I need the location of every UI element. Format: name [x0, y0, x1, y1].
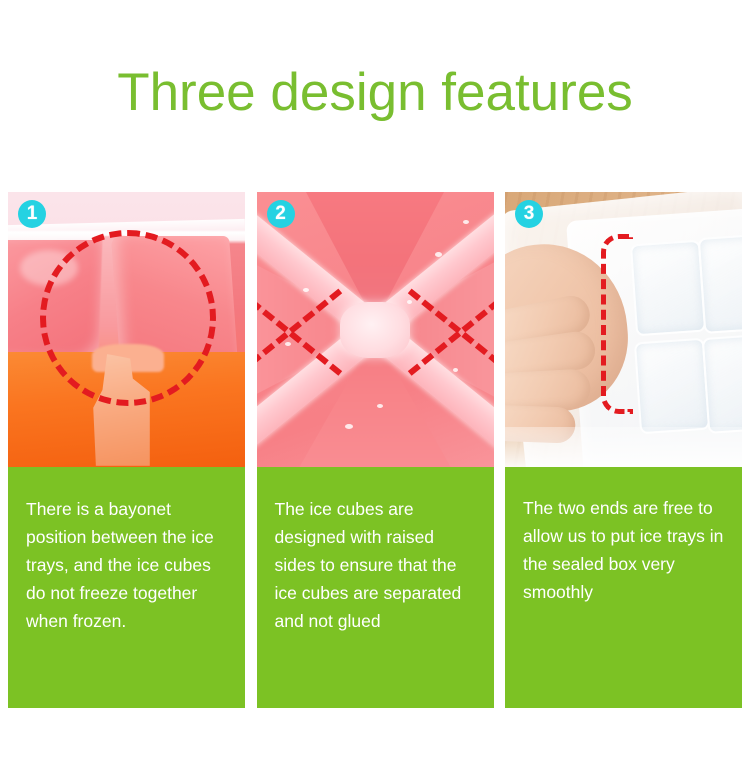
feature-card-1: 1 There is a bayonet position between th… — [8, 192, 245, 708]
feature-photo-1: 1 — [8, 192, 245, 467]
step-badge-1: 1 — [18, 200, 46, 228]
feature-caption-3: The two ends are free to allow us to put… — [505, 467, 742, 708]
step-badge-2: 2 — [267, 200, 295, 228]
divider-intersection — [340, 302, 410, 358]
water-droplet — [435, 252, 442, 257]
feature-photo-2: 2 — [257, 192, 494, 467]
water-droplet — [463, 220, 469, 224]
feature-card-3: 3 The two ends are free to allow us to p… — [505, 192, 742, 708]
infographic-page: Three design features 1 There is a bayon… — [0, 0, 750, 763]
feature-photo-3: 3 — [505, 192, 742, 467]
water-droplet — [453, 368, 458, 372]
water-droplet — [285, 342, 291, 346]
feature-caption-1: There is a bayonet position between the … — [8, 467, 245, 708]
water-droplet — [377, 404, 383, 408]
step-badge-3: 3 — [515, 200, 543, 228]
photo-bottom-fade — [505, 427, 742, 467]
feature-card-2: 2 The ice cubes are designed with raised… — [257, 192, 494, 708]
ice-tray-cell — [634, 338, 710, 435]
water-droplet — [407, 300, 412, 304]
dashed-bracket-annotation-icon — [601, 234, 633, 414]
ice-tray-cell — [698, 234, 742, 334]
dashed-circle-annotation-icon — [40, 230, 216, 406]
water-droplet — [303, 288, 309, 292]
feature-caption-2: The ice cubes are designed with raised s… — [257, 467, 494, 708]
page-title: Three design features — [0, 62, 750, 124]
feature-panels: 1 There is a bayonet position between th… — [8, 192, 742, 708]
water-droplet — [345, 424, 353, 429]
ice-tray-cell — [630, 240, 706, 337]
ice-tray-cell — [702, 334, 742, 434]
